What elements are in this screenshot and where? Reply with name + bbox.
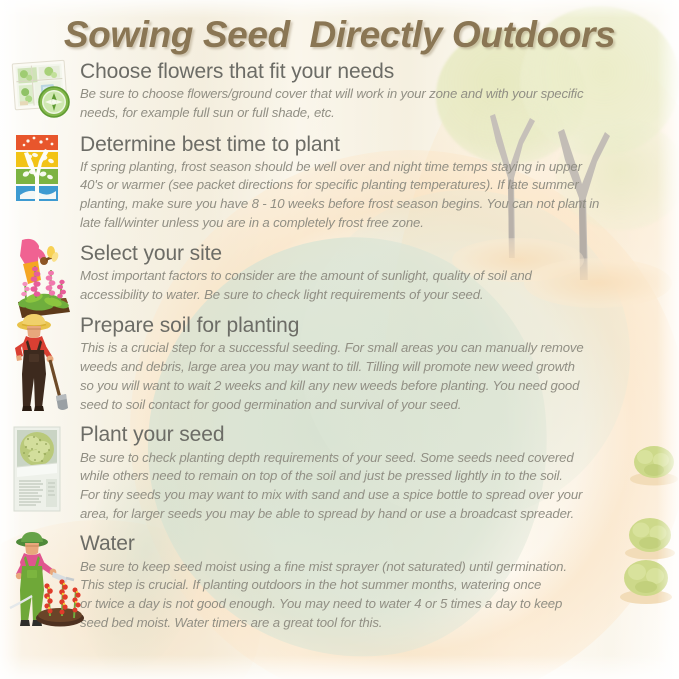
step-water: Water Be sure to keep seed moist using a… xyxy=(0,532,679,632)
step-choose-flowers: Choose flowers that fit your needs Be su… xyxy=(0,60,679,123)
step-heading: Select your site xyxy=(80,242,669,266)
infographic-poster: Sowing Seed Directly Outdoors xyxy=(0,0,679,679)
step-text: Prepare soil for planting This is a cruc… xyxy=(80,314,679,414)
step-body: Be sure to keep seed moist using a fine … xyxy=(80,558,669,633)
gardener-watering-icon xyxy=(8,530,88,628)
title-bar: Sowing Seed Directly Outdoors xyxy=(0,14,679,56)
step-body: This is a crucial step for a successful … xyxy=(80,339,669,414)
step-body: Most important factors to consider are t… xyxy=(80,267,669,304)
step-text: Water Be sure to keep seed moist using a… xyxy=(80,532,679,632)
step-determine-time: Determine best time to plant If spring p… xyxy=(0,133,679,233)
step-text: Plant your seed Be sure to check plantin… xyxy=(80,423,679,523)
step-heading: Prepare soil for planting xyxy=(80,314,669,338)
step-text: Select your site Most important factors … xyxy=(80,242,679,305)
steps-list: Choose flowers that fit your needs Be su… xyxy=(0,60,679,633)
step-text: Determine best time to plant If spring p… xyxy=(80,133,679,233)
garden-plan-icon xyxy=(8,58,74,120)
flower-bed-planting-icon xyxy=(8,236,74,322)
step-text: Choose flowers that fit your needs Be su… xyxy=(80,60,679,123)
page-title: Sowing Seed Directly Outdoors xyxy=(64,14,615,56)
step-heading: Choose flowers that fit your needs xyxy=(80,60,669,84)
step-body: Be sure to choose flowers/ground cover t… xyxy=(80,85,669,122)
step-heading: Water xyxy=(80,532,669,556)
step-prepare-soil: Prepare soil for planting This is a cruc… xyxy=(0,314,679,414)
step-select-site: Select your site Most important factors … xyxy=(0,242,679,305)
step-heading: Plant your seed xyxy=(80,423,669,447)
gardener-with-shovel-icon xyxy=(8,312,74,412)
four-seasons-icon xyxy=(8,133,68,207)
seed-packet-icon xyxy=(8,423,70,515)
step-body: If spring planting, frost season should … xyxy=(80,158,669,233)
step-heading: Determine best time to plant xyxy=(80,133,669,157)
step-body: Be sure to check planting depth requirem… xyxy=(80,449,669,524)
step-plant-seed: Plant your seed Be sure to check plantin… xyxy=(0,423,679,523)
